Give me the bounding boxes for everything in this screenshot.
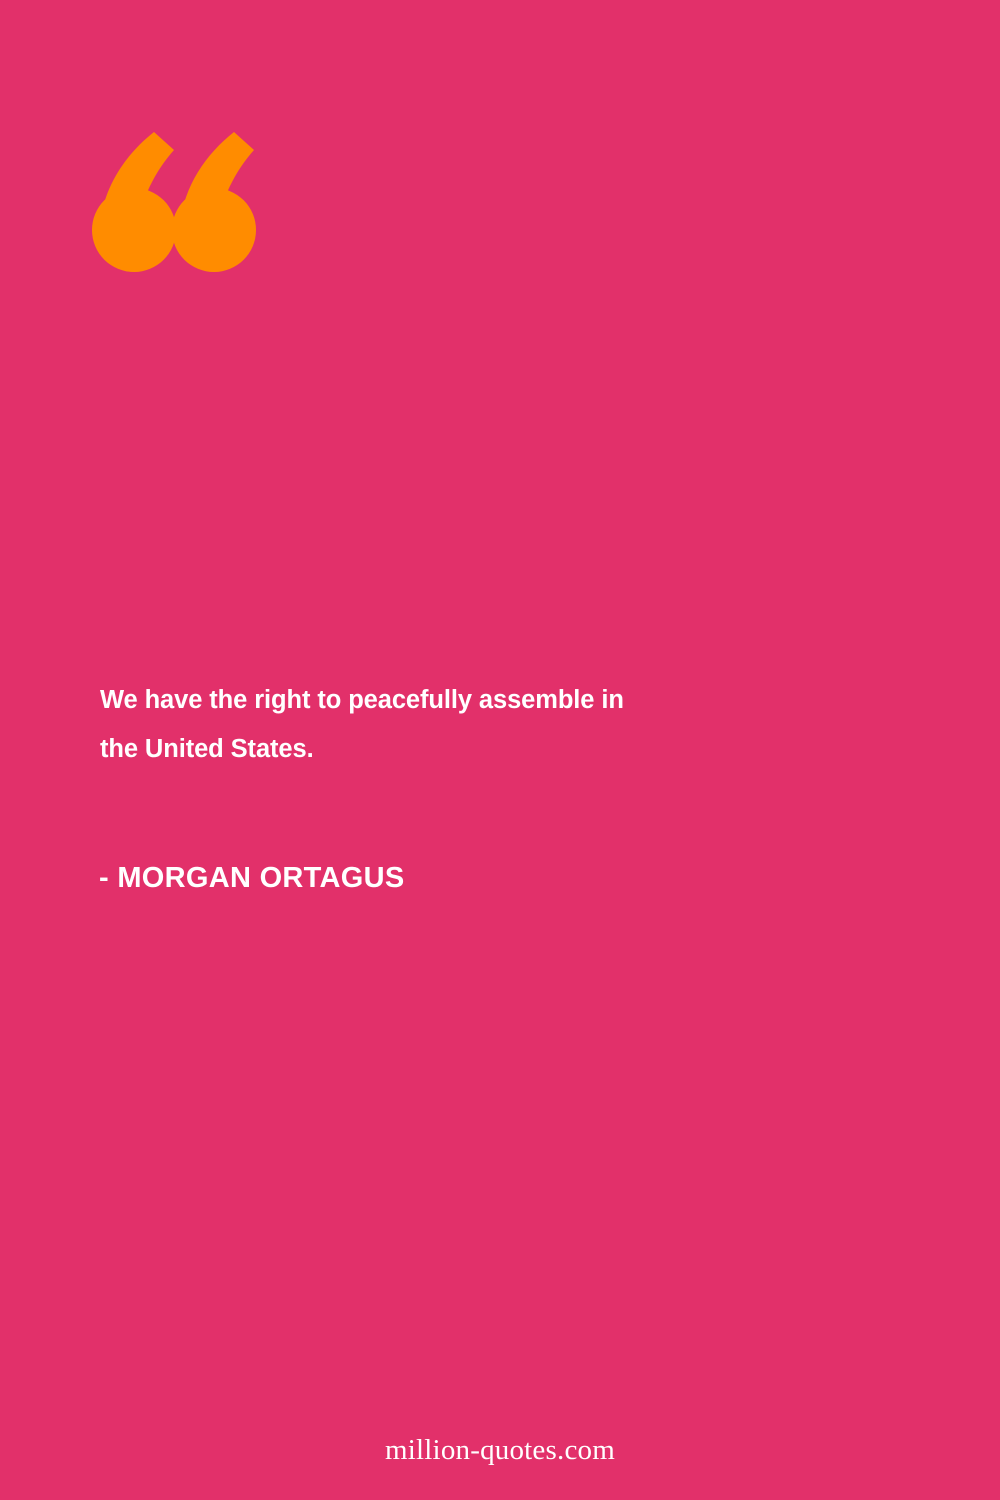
- quote-text: We have the right to peacefully assemble…: [100, 676, 840, 774]
- quote-card: We have the right to peacefully assemble…: [0, 0, 1000, 1500]
- site-watermark: million-quotes.com: [385, 1434, 615, 1466]
- quote-line-1: We have the right to peacefully assemble…: [100, 676, 840, 725]
- quote-attribution: - MORGAN ORTAGUS: [99, 862, 405, 895]
- footer: million-quotes.com: [0, 1434, 1000, 1467]
- double-quote-open-icon: [92, 120, 262, 280]
- quote-line-2: the United States.: [100, 725, 840, 774]
